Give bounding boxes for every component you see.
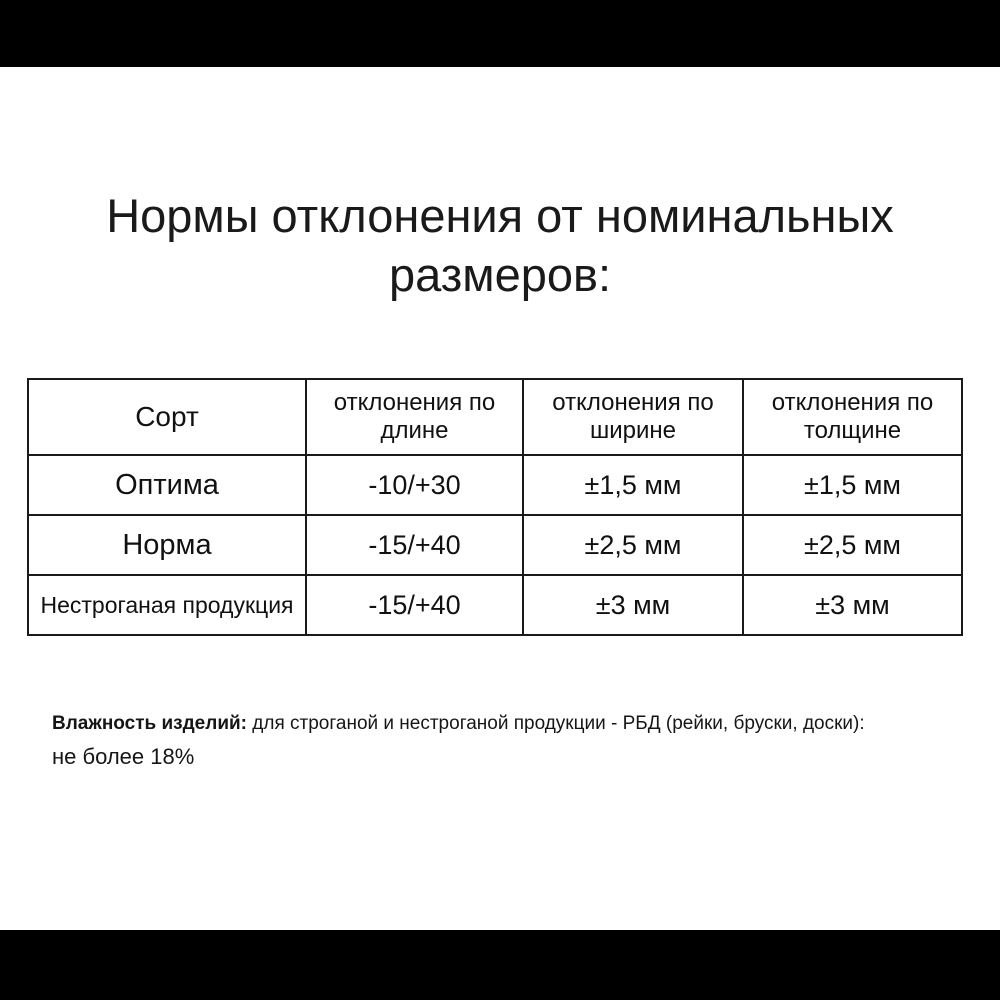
slide-canvas: Нормы отклонения от номинальных размеров…: [0, 0, 1000, 1000]
table-row: Нестроганая продукция -15/+40 ±3 мм ±3 м…: [28, 575, 962, 635]
footnote-line-1: Влажность изделий: для строганой и нестр…: [52, 710, 952, 737]
cell-width-deviation: ±3 мм: [523, 575, 743, 635]
cell-length-deviation: -15/+40: [306, 575, 523, 635]
footnote-line-2: не более 18%: [52, 741, 952, 773]
letterbox-bar-top: [0, 0, 1000, 67]
cell-grade: Норма: [28, 515, 306, 575]
column-header-thickness-line2: толщине: [744, 417, 961, 445]
cell-width-deviation: ±2,5 мм: [523, 515, 743, 575]
column-header-width: отклонения по ширине: [523, 379, 743, 455]
cell-thickness-deviation: ±2,5 мм: [743, 515, 962, 575]
column-header-grade-line1: Сорт: [135, 401, 199, 432]
content-sheet: Нормы отклонения от номинальных размеров…: [0, 67, 1000, 930]
table-row: Норма -15/+40 ±2,5 мм ±2,5 мм: [28, 515, 962, 575]
column-header-grade: Сорт: [28, 379, 306, 455]
cell-thickness-deviation: ±1,5 мм: [743, 455, 962, 515]
column-header-length: отклонения по длине: [306, 379, 523, 455]
table-body: Оптима -10/+30 ±1,5 мм ±1,5 мм Норма -15…: [28, 455, 962, 635]
table-row: Оптима -10/+30 ±1,5 мм ±1,5 мм: [28, 455, 962, 515]
cell-thickness-deviation: ±3 мм: [743, 575, 962, 635]
footnote: Влажность изделий: для строганой и нестр…: [52, 710, 952, 773]
letterbox-bar-bottom: [0, 930, 1000, 1000]
cell-width-deviation: ±1,5 мм: [523, 455, 743, 515]
column-header-width-line1: отклонения по: [552, 389, 713, 416]
cell-length-deviation: -10/+30: [306, 455, 523, 515]
cell-length-deviation: -15/+40: [306, 515, 523, 575]
page-title: Нормы отклонения от номинальных размеров…: [0, 186, 1000, 304]
column-header-thickness: отклонения по толщине: [743, 379, 962, 455]
column-header-length-line2: длине: [307, 417, 522, 445]
deviation-norms-table: Сорт отклонения по длине отклонения по ш…: [27, 378, 963, 636]
column-header-thickness-line1: отклонения по: [772, 389, 933, 416]
table-header: Сорт отклонения по длине отклонения по ш…: [28, 379, 962, 455]
column-header-width-line2: ширине: [524, 417, 742, 445]
footnote-label: Влажность изделий:: [52, 713, 247, 734]
footnote-line-1-text: для строганой и нестроганой продукции - …: [247, 713, 865, 734]
cell-grade: Оптима: [28, 455, 306, 515]
table-header-row: Сорт отклонения по длине отклонения по ш…: [28, 379, 962, 455]
column-header-length-line1: отклонения по: [334, 389, 495, 416]
cell-grade: Нестроганая продукция: [28, 575, 306, 635]
